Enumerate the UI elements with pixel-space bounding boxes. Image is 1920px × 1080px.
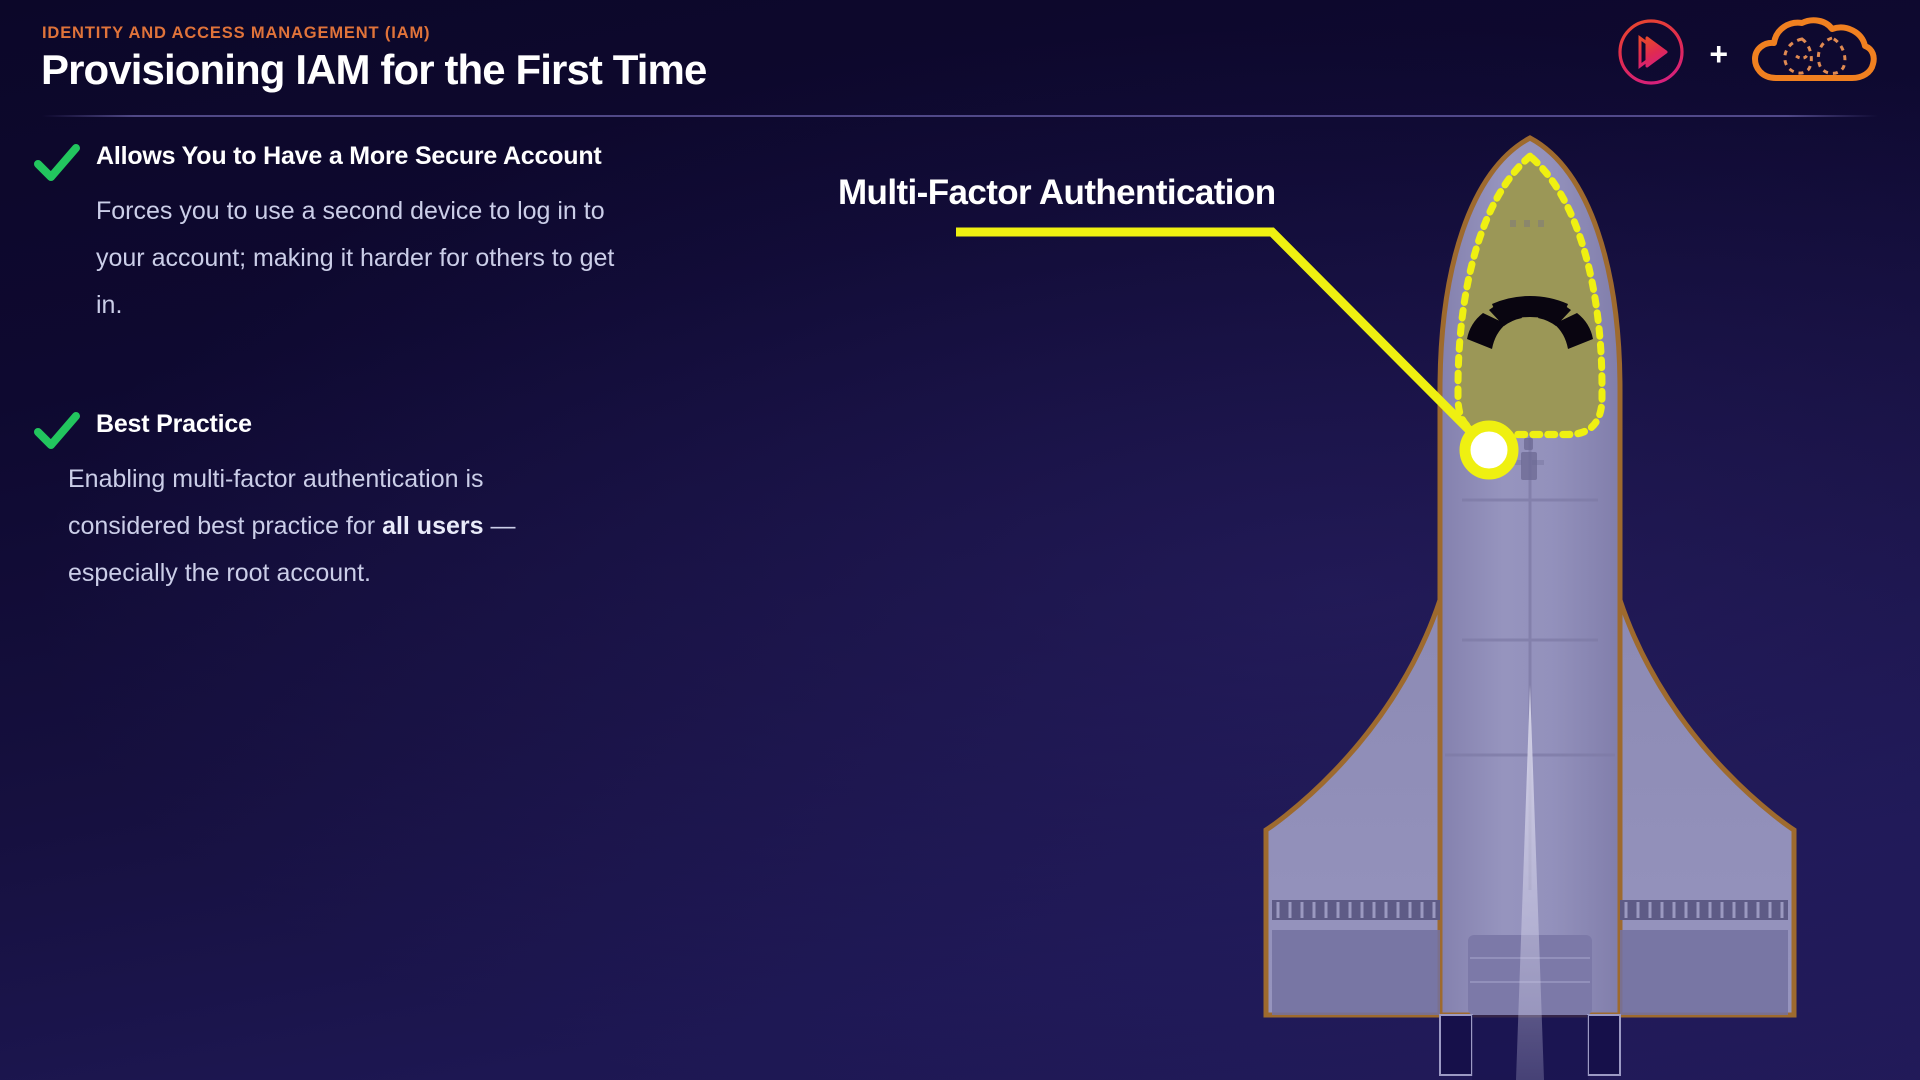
point-title: Allows You to Have a More Secure Account xyxy=(96,142,602,171)
green-checkmark-icon xyxy=(34,140,80,186)
header-divider xyxy=(42,115,1878,117)
body-line: in. xyxy=(96,282,614,329)
body-line: considered best practice for all users — xyxy=(68,503,515,550)
body-line-tail: — xyxy=(484,512,516,540)
point-title: Best Practice xyxy=(96,410,252,439)
page-title: Provisioning IAM for the First Time xyxy=(41,46,706,94)
point-body: Forces you to use a second device to log… xyxy=(96,188,614,329)
body-line: especially the root account. xyxy=(68,550,515,597)
cloud-logo xyxy=(1750,16,1878,93)
logo-lockup: + xyxy=(1615,18,1878,90)
point-block: Best Practice Enabling multi-factor auth… xyxy=(0,408,830,668)
point-body: Enabling multi-factor authentication is … xyxy=(68,456,515,597)
slide-header: IDENTITY AND ACCESS MANAGEMENT (IAM) Pro… xyxy=(0,0,1920,118)
point-block: Allows You to Have a More Secure Account… xyxy=(0,140,830,408)
plus-icon: + xyxy=(1709,38,1728,70)
space-shuttle-illustration xyxy=(1140,130,1920,1080)
eyebrow-text: IDENTITY AND ACCESS MANAGEMENT (IAM) xyxy=(42,24,430,43)
body-line: your account; making it harder for other… xyxy=(96,235,614,282)
body-line-text: considered best practice for xyxy=(68,512,382,540)
green-checkmark-icon xyxy=(34,408,80,454)
play-circle-logo xyxy=(1615,16,1687,93)
callout-label: Multi-Factor Authentication xyxy=(838,173,1275,213)
content-column: Allows You to Have a More Secure Account… xyxy=(0,140,830,668)
body-line: Forces you to use a second device to log… xyxy=(96,188,614,235)
body-line: Enabling multi-factor authentication is xyxy=(68,456,515,503)
body-emphasis: all users xyxy=(382,512,483,540)
